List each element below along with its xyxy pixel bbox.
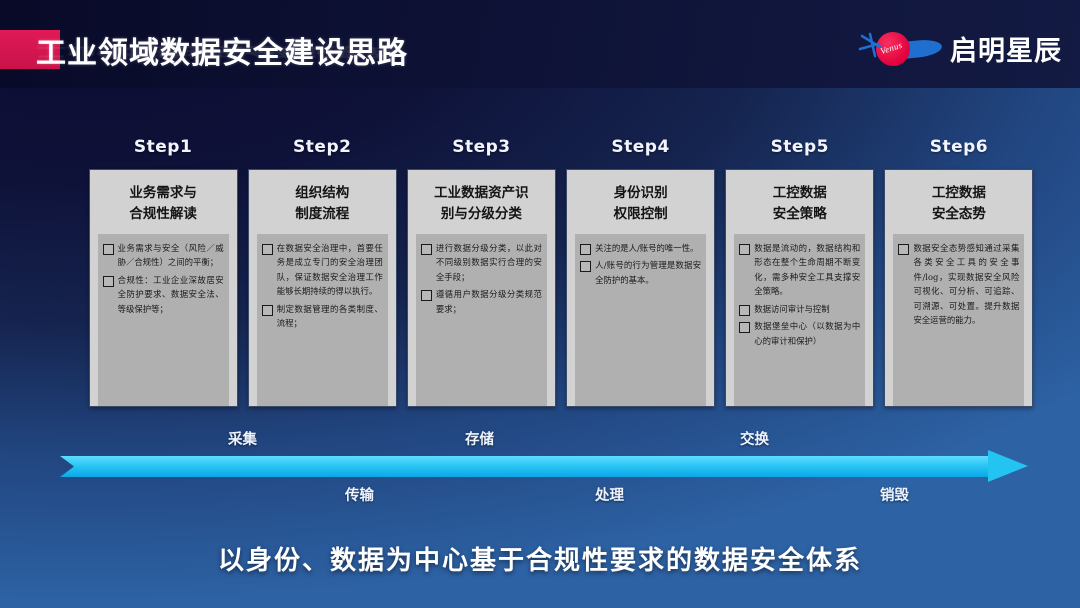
step-card-title-line: 安全态势 [893, 204, 1025, 225]
bullet-square-icon [262, 305, 273, 316]
step-card-title-1: 业务需求与合规性解读 [97, 183, 229, 225]
flow-label-below-1: 传输 [345, 484, 374, 505]
bullet-square-icon [580, 261, 591, 272]
bullet-square-icon [421, 290, 432, 301]
bullet-text: 人/账号的行为管理是数据安全防护的基本。 [595, 258, 701, 287]
step-card-title-line: 工控数据 [734, 183, 866, 204]
bullet-text: 在数据安全治理中，首要任务是成立专门的安全治理团队，保证数据安全治理工作能够长期… [277, 241, 383, 299]
step-column-4: Step4身份识别权限控制关注的是人/账号的唯一性。人/账号的行为管理是数据安全… [566, 137, 716, 407]
bullet-square-icon [421, 244, 432, 255]
step-card-4[interactable]: 身份识别权限控制关注的是人/账号的唯一性。人/账号的行为管理是数据安全防护的基本… [566, 169, 715, 407]
brand-logo: Venus 启明星辰 [856, 26, 1062, 70]
bullet-text: 数据访问审计与控制 [754, 302, 829, 316]
bullet-square-icon [739, 322, 750, 333]
step-card-title-3: 工业数据资产识别与分级分类 [415, 183, 547, 225]
bullet-square-icon [262, 244, 273, 255]
step-card-title-line: 业务需求与 [97, 183, 229, 204]
step-card-body-6: 数据安全态势感知通过采集各类安全工具的安全事件/log，实现数据安全风险可视化、… [893, 234, 1024, 406]
bullet-text: 合规性：工业企业深故居安全防护要求、数据安全法、等级保护等； [118, 273, 224, 316]
bullet-item: 在数据安全治理中，首要任务是成立专门的安全治理团队，保证数据安全治理工作能够长期… [262, 241, 383, 299]
flow-arrow-head-icon [988, 450, 1028, 482]
bullet-square-icon [580, 244, 591, 255]
step-card-title-line: 身份识别 [575, 183, 707, 204]
step-card-title-line: 权限控制 [575, 204, 707, 225]
step-card-2[interactable]: 组织结构制度流程在数据安全治理中，首要任务是成立专门的安全治理团队，保证数据安全… [248, 169, 397, 407]
bullet-text: 遵循用户数据分级分类规范要求； [436, 287, 542, 316]
step-card-body-2: 在数据安全治理中，首要任务是成立专门的安全治理团队，保证数据安全治理工作能够长期… [257, 234, 388, 406]
slide: 工业领域数据安全建设思路 工业领域数据安全建设思路 Venus 启明星辰 Ste… [0, 0, 1080, 608]
flow-label-above-2: 存储 [465, 428, 494, 449]
bullet-item: 合规性：工业企业深故居安全防护要求、数据安全法、等级保护等； [103, 273, 224, 316]
step-card-1[interactable]: 业务需求与合规性解读业务需求与安全（风险／威胁／合规性）之间的平衡；合规性：工业… [89, 169, 238, 407]
bullet-text: 进行数据分级分类，以此对不同级别数据实行合理的安全手段； [436, 241, 542, 284]
step-card-6[interactable]: 工控数据安全态势数据安全态势感知通过采集各类安全工具的安全事件/log，实现数据… [884, 169, 1033, 407]
bullet-text: 业务需求与安全（风险／威胁／合规性）之间的平衡； [118, 241, 224, 270]
bullet-item: 制定数据管理的各类制度、流程； [262, 302, 383, 331]
bullet-square-icon [103, 244, 114, 255]
flow-label-above-3: 交换 [740, 428, 769, 449]
flow-arrow-bar [60, 456, 996, 477]
step-card-body-3: 进行数据分级分类，以此对不同级别数据实行合理的安全手段；遵循用户数据分级分类规范… [416, 234, 547, 406]
bullet-text: 数据是流动的，数据结构和形态在整个生命周期不断变化，需多种安全工具支撑安全策略。 [754, 241, 860, 299]
bullet-square-icon [739, 244, 750, 255]
bullet-item: 数据安全态势感知通过采集各类安全工具的安全事件/log，实现数据安全风险可视化、… [898, 241, 1019, 328]
bullet-item: 关注的是人/账号的唯一性。 [580, 241, 701, 255]
bullet-square-icon [103, 276, 114, 287]
step-label-3: Step3 [452, 137, 510, 157]
step-label-4: Step4 [611, 137, 669, 157]
step-card-title-line: 工业数据资产识 [415, 183, 547, 204]
bullet-text: 关注的是人/账号的唯一性。 [595, 241, 698, 255]
logo-company-name: 启明星辰 [950, 29, 1062, 68]
bullet-item: 人/账号的行为管理是数据安全防护的基本。 [580, 258, 701, 287]
flow-label-above-1: 采集 [228, 428, 257, 449]
step-card-body-5: 数据是流动的，数据结构和形态在整个生命周期不断变化，需多种安全工具支撑安全策略。… [734, 234, 865, 406]
step-card-title-5: 工控数据安全策略 [734, 183, 866, 225]
step-column-5: Step5工控数据安全策略数据是流动的，数据结构和形态在整个生命周期不断变化，需… [725, 137, 875, 407]
slide-header: 工业领域数据安全建设思路 工业领域数据安全建设思路 Venus 启明星辰 [0, 0, 1080, 88]
step-card-5[interactable]: 工控数据安全策略数据是流动的，数据结构和形态在整个生命周期不断变化，需多种安全工… [725, 169, 874, 407]
step-label-2: Step2 [293, 137, 351, 157]
bullet-item: 进行数据分级分类，以此对不同级别数据实行合理的安全手段； [421, 241, 542, 284]
bullet-item: 数据堡垒中心（以数据为中心的审计和保护） [739, 319, 860, 348]
flow-label-below-3: 销毁 [880, 484, 909, 505]
bullet-item: 遵循用户数据分级分类规范要求； [421, 287, 542, 316]
page-title: 工业领域数据安全建设思路 [36, 28, 408, 72]
step-label-1: Step1 [134, 137, 192, 157]
step-card-3[interactable]: 工业数据资产识别与分级分类进行数据分级分类，以此对不同级别数据实行合理的安全手段… [407, 169, 556, 407]
step-card-body-4: 关注的是人/账号的唯一性。人/账号的行为管理是数据安全防护的基本。 [575, 234, 706, 406]
bullet-square-icon [739, 305, 750, 316]
step-card-title-2: 组织结构制度流程 [256, 183, 388, 225]
logo-mark: Venus [856, 26, 942, 70]
steps-row: Step1业务需求与合规性解读业务需求与安全（风险／威胁／合规性）之间的平衡；合… [88, 137, 1034, 407]
lifecycle-flow: 采集存储交换传输处理销毁 [60, 428, 1028, 514]
bullet-square-icon [898, 244, 909, 255]
step-card-body-1: 业务需求与安全（风险／威胁／合规性）之间的平衡；合规性：工业企业深故居安全防护要… [98, 234, 229, 406]
step-column-3: Step3工业数据资产识别与分级分类进行数据分级分类，以此对不同级别数据实行合理… [406, 137, 556, 407]
step-card-title-line: 合规性解读 [97, 204, 229, 225]
step-column-1: Step1业务需求与合规性解读业务需求与安全（风险／威胁／合规性）之间的平衡；合… [88, 137, 238, 407]
step-card-title-4: 身份识别权限控制 [575, 183, 707, 225]
bullet-text: 制定数据管理的各类制度、流程； [277, 302, 383, 331]
step-card-title-6: 工控数据安全态势 [893, 183, 1025, 225]
bullet-item: 数据是流动的，数据结构和形态在整个生命周期不断变化，需多种安全工具支撑安全策略。 [739, 241, 860, 299]
step-card-title-line: 组织结构 [256, 183, 388, 204]
step-card-title-line: 安全策略 [734, 204, 866, 225]
bullet-text: 数据堡垒中心（以数据为中心的审计和保护） [754, 319, 860, 348]
step-card-title-line: 制度流程 [256, 204, 388, 225]
step-card-title-line: 工控数据 [893, 183, 1025, 204]
step-card-title-line: 别与分级分类 [415, 204, 547, 225]
bullet-item: 数据访问审计与控制 [739, 302, 860, 316]
flow-arrow [60, 456, 1028, 477]
slide-caption: 以身份、数据为中心基于合规性要求的数据安全体系 [0, 540, 1080, 577]
bullet-text: 数据安全态势感知通过采集各类安全工具的安全事件/log，实现数据安全风险可视化、… [913, 241, 1019, 328]
flow-label-below-2: 处理 [595, 484, 624, 505]
step-label-6: Step6 [930, 137, 988, 157]
step-column-6: Step6工控数据安全态势数据安全态势感知通过采集各类安全工具的安全事件/log… [884, 137, 1034, 407]
step-label-5: Step5 [771, 137, 829, 157]
step-column-2: Step2组织结构制度流程在数据安全治理中，首要任务是成立专门的安全治理团队，保… [247, 137, 397, 407]
bullet-item: 业务需求与安全（风险／威胁／合规性）之间的平衡； [103, 241, 224, 270]
